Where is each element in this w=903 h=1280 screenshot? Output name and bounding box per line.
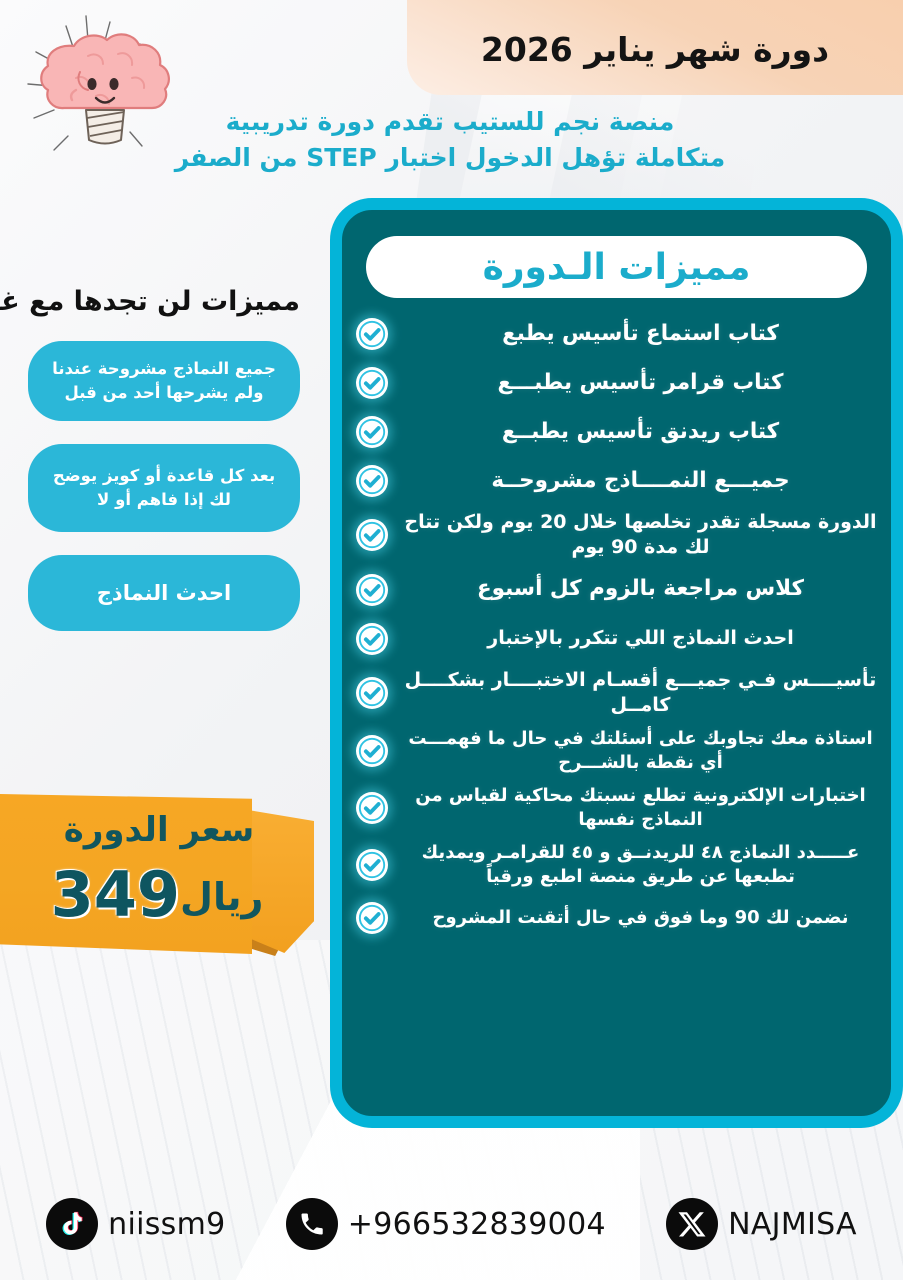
check-circle-icon xyxy=(356,416,388,448)
check-circle-icon xyxy=(356,849,388,881)
subtitle-line-2: متكاملة تؤهل الدخول اختبار STEP من الصفر xyxy=(150,140,750,176)
social-account[interactable]: +966532839004 xyxy=(286,1198,606,1250)
feature-item: تأسيــــس فـي جميـــع أقسـام الاختبــــا… xyxy=(356,668,881,719)
feature-text: تأسيــــس فـي جميـــع أقسـام الاختبــــا… xyxy=(400,668,881,719)
features-panel: مميزات الـدورة كتاب استماع تأسيس يطبعكتا… xyxy=(330,198,903,1128)
feature-item: كتاب ريدنق تأسيس يطبــع xyxy=(356,412,881,452)
check-circle-icon xyxy=(356,735,388,767)
x-twitter-icon[interactable] xyxy=(666,1198,718,1250)
feature-text: نضمن لك 90 وما فوق في حال أتقنت المشروح xyxy=(400,906,881,930)
feature-item: الدورة مسجلة تقدر تخلصها خلال 20 يوم ولك… xyxy=(356,510,881,561)
social-handle: niissm9 xyxy=(108,1207,225,1242)
check-circle-icon xyxy=(356,519,388,551)
subtitle-line-2-part-b: من الصفر xyxy=(175,143,298,172)
check-circle-icon xyxy=(356,318,388,350)
social-handle: NAJMISA xyxy=(728,1207,857,1242)
feature-item: كتاب استماع تأسيس يطبع xyxy=(356,314,881,354)
price-label: سعر الدورة xyxy=(0,810,318,850)
feature-item: كتاب قرامر تأسيس يطبـــع xyxy=(356,363,881,403)
price-value-row: ريال349 xyxy=(0,858,318,931)
tiktok-icon[interactable] xyxy=(46,1198,98,1250)
check-circle-icon xyxy=(356,623,388,655)
feature-text: كلاس مراجعة بالزوم كل أسبوع xyxy=(400,575,881,604)
check-circle-icon xyxy=(356,574,388,606)
subtitle-line-1: منصة نجم للستيب تقدم دورة تدريبية xyxy=(150,104,750,140)
check-circle-icon xyxy=(356,792,388,824)
feature-item: اختبارات الإلكترونية تطلع نسبتك محاكية ل… xyxy=(356,784,881,832)
feature-item: استاذة معك تجاوبك على أسئلتك في حال ما ف… xyxy=(356,727,881,775)
subtitle: منصة نجم للستيب تقدم دورة تدريبية متكامل… xyxy=(150,104,750,175)
feature-text: عـــــدد النماذج ٤٨ للريدنــق و ٤٥ للقرا… xyxy=(400,841,881,889)
price-amount: 349 xyxy=(51,858,180,931)
feature-item: عـــــدد النماذج ٤٨ للريدنــق و ٤٥ للقرا… xyxy=(356,841,881,889)
feature-item: احدث النماذج اللي تتكرر بالإختبار xyxy=(356,619,881,659)
feature-text: اختبارات الإلكترونية تطلع نسبتك محاكية ل… xyxy=(400,784,881,832)
exam-name: STEP xyxy=(306,143,376,172)
feature-text: الدورة مسجلة تقدر تخلصها خلال 20 يوم ولك… xyxy=(400,510,881,561)
feature-item: نضمن لك 90 وما فوق في حال أتقنت المشروح xyxy=(356,898,881,938)
left-column-heading: مميزات لن تجدها مع غيرنا3 xyxy=(10,275,300,319)
check-circle-icon xyxy=(356,902,388,934)
features-panel-title: مميزات الـدورة xyxy=(366,236,867,298)
date-banner: دورة شهر يناير 2026 xyxy=(407,0,903,95)
social-account[interactable]: NAJMISA xyxy=(666,1198,857,1250)
feature-text: جميـــع النمــــاذج مشروحــة xyxy=(400,467,881,496)
features-list: كتاب استماع تأسيس يطبعكتاب قرامر تأسيس ي… xyxy=(356,314,881,938)
subtitle-line-2-part-a: متكاملة تؤهل الدخول اختبار xyxy=(385,143,725,172)
poster-root: دورة شهر يناير 2026 xyxy=(0,0,903,1280)
date-banner-title: دورة شهر يناير 2026 xyxy=(481,30,829,69)
phone-icon[interactable] xyxy=(286,1198,338,1250)
feature-text: استاذة معك تجاوبك على أسئلتك في حال ما ف… xyxy=(400,727,881,775)
social-handle: +966532839004 xyxy=(348,1207,606,1242)
footer-social-bar: NAJMISA+966532839004niissm9 xyxy=(0,1168,903,1280)
benefit-pill-1[interactable]: جميع النماذج مشروحة عندنا ولم يشرحها أحد… xyxy=(28,341,300,421)
price-currency: ريال xyxy=(180,875,263,919)
feature-text: احدث النماذج اللي تتكرر بالإختبار xyxy=(400,626,881,651)
check-circle-icon xyxy=(356,367,388,399)
benefit-pill-2[interactable]: بعد كل قاعدة أو كويز يوضح لك إذا فاهم أو… xyxy=(28,444,300,532)
price-ribbon: سعر الدورة ريال349 xyxy=(0,786,318,971)
check-circle-icon xyxy=(356,677,388,709)
feature-item: جميـــع النمــــاذج مشروحــة xyxy=(356,461,881,501)
feature-text: كتاب ريدنق تأسيس يطبــع xyxy=(400,418,881,447)
feature-text: كتاب قرامر تأسيس يطبـــع xyxy=(400,369,881,398)
feature-item: كلاس مراجعة بالزوم كل أسبوع xyxy=(356,570,881,610)
feature-text: كتاب استماع تأسيس يطبع xyxy=(400,320,881,349)
benefit-pill-3[interactable]: احدث النماذج xyxy=(28,555,300,631)
social-account[interactable]: niissm9 xyxy=(46,1198,225,1250)
check-circle-icon xyxy=(356,465,388,497)
left-column-heading-text: مميزات لن تجدها مع غيرنا xyxy=(0,286,300,317)
